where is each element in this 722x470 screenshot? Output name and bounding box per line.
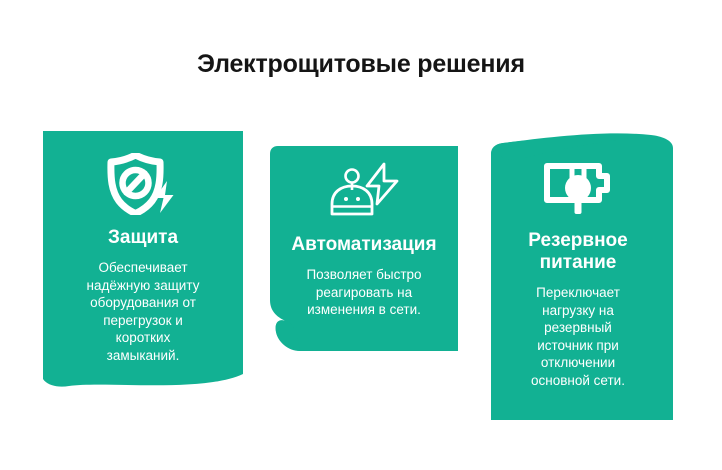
robot-bolt-icon xyxy=(327,162,401,224)
card-automation-body: Позволяет быстро реагировать на изменени… xyxy=(278,266,450,319)
shield-slash-bolt-icon xyxy=(107,153,179,215)
card-protection[interactable]: Защита Обеспечивает надёжную защиту обор… xyxy=(43,131,243,389)
card-backup[interactable]: Резервное питание Переключает нагрузку н… xyxy=(483,134,673,420)
card-backup-title: Резервное питание xyxy=(528,230,627,274)
card-automation-title: Автоматизация xyxy=(291,234,436,256)
card-automation[interactable]: Автоматизация Позволяет быстро реагирова… xyxy=(270,146,458,351)
card-protection-title: Защита xyxy=(108,227,178,249)
battery-plug-icon xyxy=(541,158,615,218)
card-backup-body: Переключает нагрузку на резервный источн… xyxy=(495,284,661,389)
page-title: Электрощитовые решения xyxy=(0,50,722,79)
card-protection-body: Обеспечивает надёжную защиту оборудовани… xyxy=(59,259,227,364)
slide-canvas: Электрощитовые решения Защита Обеспечива… xyxy=(0,0,722,470)
